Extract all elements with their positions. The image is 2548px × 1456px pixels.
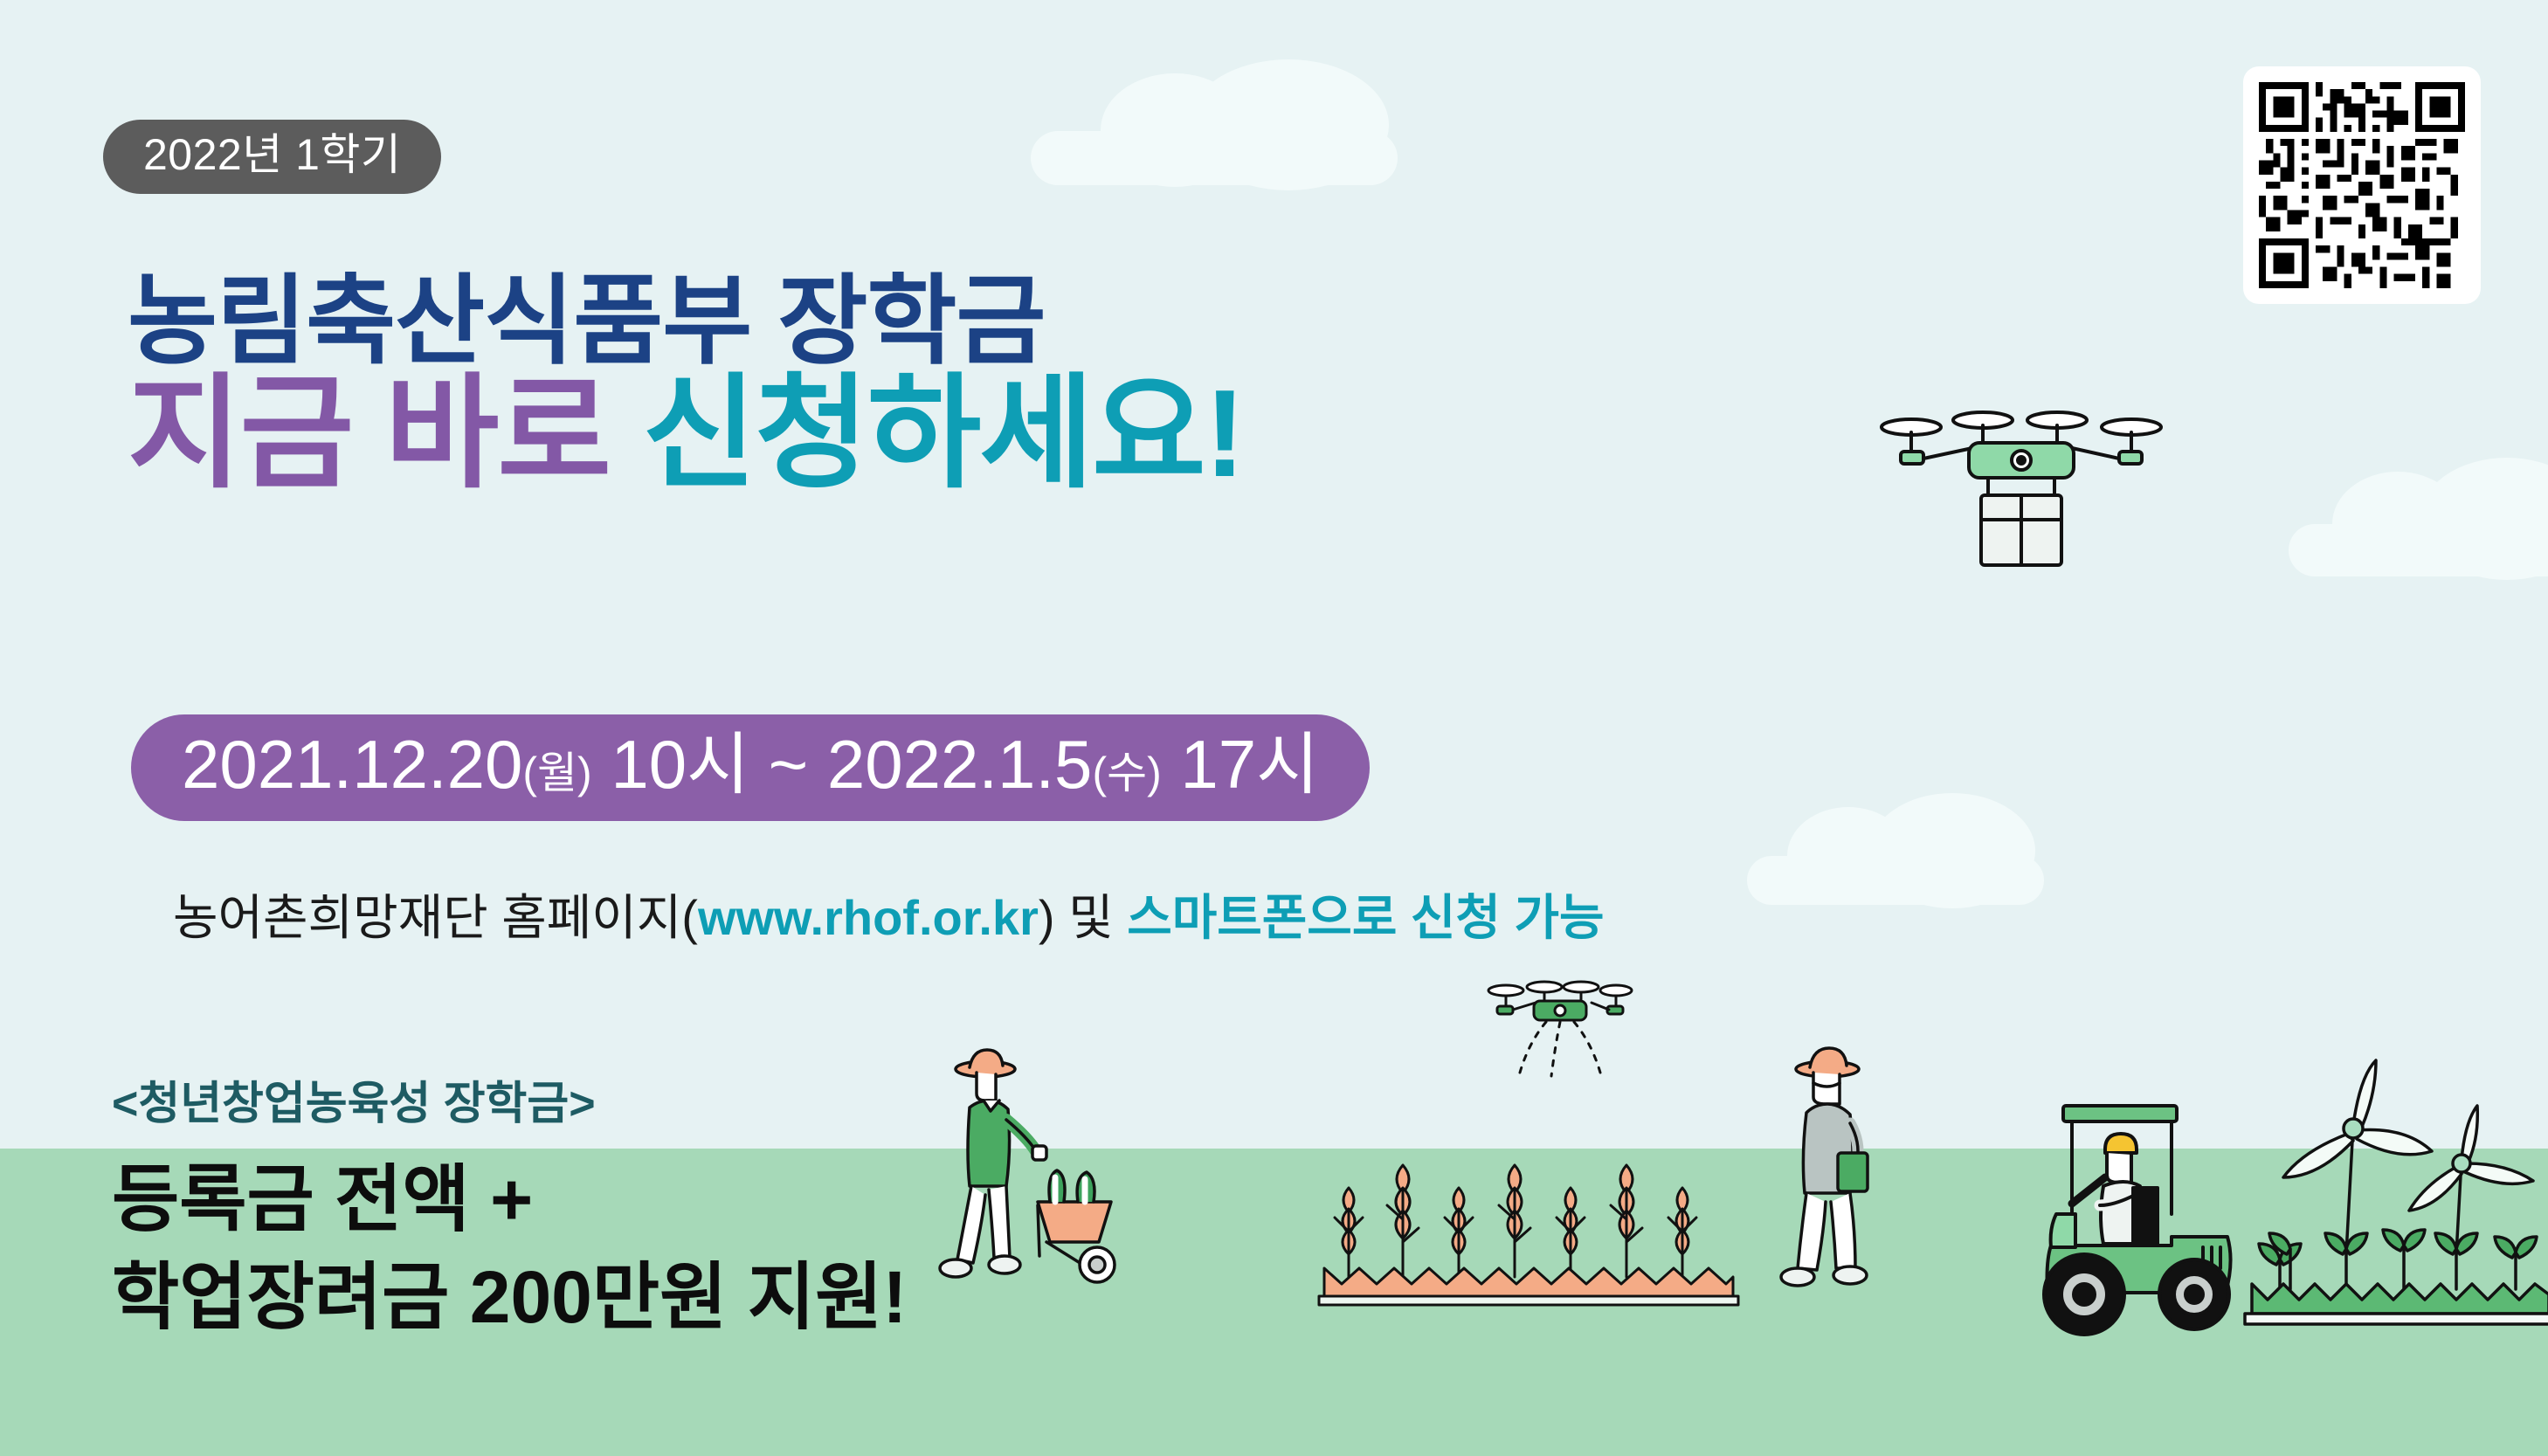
benefit-line-1: 등록금 전액 + (112, 1151, 907, 1249)
cloud-icon (2289, 524, 2548, 576)
page-title: 농림축산식품부 장학금 (128, 242, 1046, 383)
site-line-middle: ) 및 (1039, 890, 1127, 945)
cloud-icon (1031, 131, 1398, 185)
qr-code-icon (2259, 82, 2465, 288)
period-separator: ~ (749, 726, 827, 803)
drone-delivery-icon (1878, 397, 2166, 624)
wind-turbine-field-icon (2245, 1057, 2548, 1345)
scholarship-category-label: <청년창업농육성 장학금> (112, 1066, 596, 1132)
semester-badge: 2022년 1학기 (103, 120, 441, 194)
promo-poster: 2022년 1학기 농림축산식품부 장학금 지금 바로 신청하세요! 2021.… (0, 0, 2548, 1456)
foundation-website-link[interactable]: www.rhof.or.kr (698, 890, 1039, 945)
page-subtitle: 지금 바로 신청하세요! (128, 372, 1244, 496)
benefit-text: 등록금 전액 + 학업장려금 200만원 지원! (112, 1151, 907, 1346)
wheat-field-icon (1319, 1135, 1738, 1310)
spraying-drone-icon (1485, 978, 1633, 1092)
farmer-with-tablet-icon (1764, 1039, 1904, 1301)
period-start-time: 10시 (592, 726, 749, 803)
application-channel-line: 농어촌희망재단 홈페이지(www.rhof.or.kr) 및 스마트폰으로 신청… (173, 879, 1605, 949)
benefit-line-2: 학업장려금 200만원 지원! (112, 1249, 907, 1347)
qr-code[interactable] (2243, 66, 2481, 304)
headline-call-to-action-main: 신청하세요! (642, 364, 1244, 503)
mobile-application-note: 스마트폰으로 신청 가능 (1127, 890, 1604, 945)
period-end-time: 17시 (1162, 726, 1319, 803)
period-end-dow: (수) (1092, 749, 1161, 797)
application-period-pill: 2021.12.20(월) 10시 ~ 2022.1.5(수) 17시 (131, 714, 1370, 821)
cloud-icon (1747, 856, 2044, 905)
farmer-with-wheelbarrow-icon (935, 1039, 1144, 1301)
period-start-dow: (월) (522, 749, 591, 797)
headline-call-to-action-prefix: 지금 바로 (128, 364, 642, 503)
period-end-date: 2022.1.5 (827, 726, 1093, 803)
period-start-date: 2021.12.20 (182, 726, 522, 803)
site-line-prefix: 농어촌희망재단 홈페이지( (173, 890, 698, 945)
